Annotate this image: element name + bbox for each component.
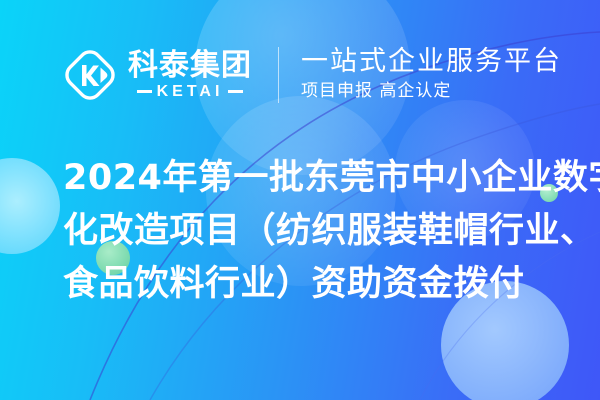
brand-name-en: KETAI — [157, 84, 224, 100]
dash-left-icon — [137, 90, 152, 93]
slogan-block: 一站式企业服务平台 项目申报 高企认定 — [301, 46, 562, 104]
headline-line-1: 2024年第一批东莞市中小企业数字 — [63, 152, 563, 205]
brand-name-cn: 科泰集团 — [128, 50, 252, 82]
promo-banner: 科泰集团 KETAI 一站式企业服务平台 项目申报 高企认定 2024年第一批东… — [0, 0, 600, 400]
headline-line-2: 化改造项目（纺织服装鞋帽行业、 — [63, 205, 563, 258]
ketai-diamond-k-logo-icon — [60, 45, 120, 105]
page-title: 2024年第一批东莞市中小企业数字 化改造项目（纺织服装鞋帽行业、 食品饮料行业… — [63, 152, 563, 311]
circle-left-cyan — [0, 158, 60, 254]
headline-line-3: 食品饮料行业）资助资金拨付 — [63, 258, 563, 311]
slogan-main: 一站式企业服务平台 — [301, 46, 562, 77]
brand-name-en-row: KETAI — [137, 84, 244, 100]
dash-right-icon — [228, 90, 243, 93]
brand-logo[interactable]: 科泰集团 KETAI — [60, 45, 252, 105]
slogan-sub: 项目申报 高企认定 — [301, 80, 562, 104]
brand-logo-text: 科泰集团 KETAI — [128, 50, 252, 100]
banner-header: 科泰集团 KETAI 一站式企业服务平台 项目申报 高企认定 — [0, 34, 600, 116]
header-divider — [278, 47, 279, 103]
